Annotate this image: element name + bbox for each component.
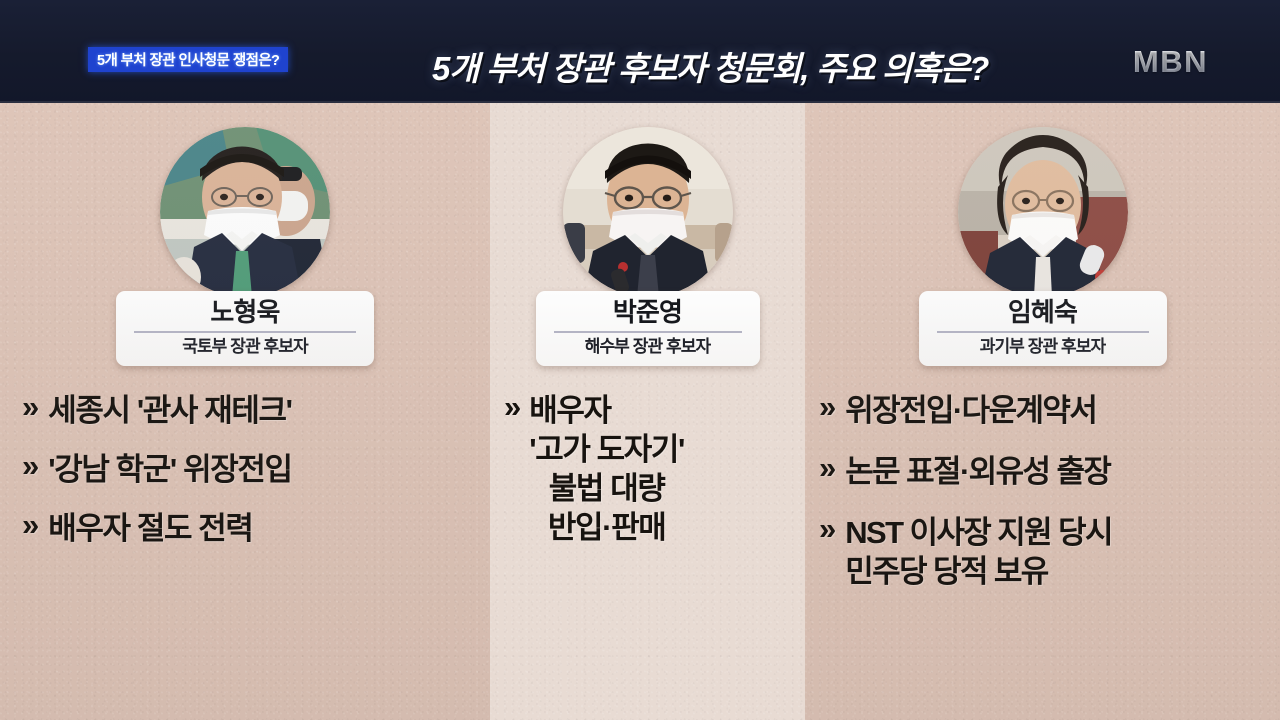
list-item: » 위장전입·다운계약서: [819, 391, 1280, 430]
candidates-board: 노형욱 국토부 장관 후보자 » 세종시 '관사 재테크' » '강남 학군' …: [0, 103, 1280, 720]
candidate-name-1: 노형욱: [122, 298, 368, 326]
chevron-double-right-icon: »: [819, 391, 836, 423]
chevron-double-right-icon: »: [22, 509, 39, 541]
portrait-wrapper-3: [958, 127, 1128, 297]
issue-text: 배우자 절도 전력: [48, 509, 252, 548]
portrait-wrapper-1: [160, 127, 330, 297]
header-bar: 5개 부처 장관 인사청문 쟁점은? 5개 부처 장관 후보자 청문회, 주요 …: [0, 0, 1280, 103]
candidate-column-3: 임혜숙 과기부 장관 후보자 » 위장전입·다운계약서 » 논문 표절·외유성 …: [805, 103, 1280, 720]
chevron-double-right-icon: »: [22, 391, 39, 423]
list-item: » 세종시 '관사 재테크': [22, 391, 490, 430]
nameplate-2: 박준영 해수부 장관 후보자: [536, 291, 760, 366]
candidate-name-2: 박준영: [542, 298, 754, 326]
portrait-illustration-1: [160, 127, 330, 297]
nameplate-divider-1: [134, 331, 356, 333]
issue-text: 배우자 '고가 도자기' 불법 대량 반입·판매: [529, 391, 684, 547]
issue-text: 세종시 '관사 재테크': [48, 391, 291, 430]
chevron-double-right-icon: »: [819, 513, 836, 545]
issue-list-3: » 위장전입·다운계약서 » 논문 표절·외유성 출장 » NST 이사장 지원…: [805, 391, 1280, 613]
nameplate-3: 임혜숙 과기부 장관 후보자: [919, 291, 1167, 366]
network-logo: MBN: [1133, 44, 1208, 80]
avatar-2: [563, 127, 733, 297]
list-item: » 배우자 '고가 도자기' 불법 대량 반입·판매: [504, 391, 805, 547]
portrait-wrapper-2: [563, 127, 733, 297]
list-item: » 배우자 절도 전력: [22, 509, 490, 548]
chevron-double-right-icon: »: [22, 450, 39, 482]
candidate-role-1: 국토부 장관 후보자: [122, 338, 368, 357]
candidate-role-3: 과기부 장관 후보자: [925, 338, 1161, 357]
nameplate-divider-2: [554, 331, 742, 333]
nameplate-divider-3: [937, 331, 1149, 333]
candidate-name-3: 임혜숙: [925, 298, 1161, 326]
chevron-double-right-icon: »: [819, 452, 836, 484]
issue-list-2: » 배우자 '고가 도자기' 불법 대량 반입·판매: [490, 391, 805, 547]
avatar-1: [160, 127, 330, 297]
list-item: » NST 이사장 지원 당시 민주당 당적 보유: [819, 513, 1280, 591]
kicker-badge: 5개 부처 장관 인사청문 쟁점은?: [88, 47, 288, 72]
issue-text: 논문 표절·외유성 출장: [845, 452, 1110, 491]
page-title: 5개 부처 장관 후보자 청문회, 주요 의혹은?: [360, 42, 1060, 90]
nameplate-1: 노형욱 국토부 장관 후보자: [116, 291, 374, 366]
list-item: » '강남 학군' 위장전입: [22, 450, 490, 489]
broadcast-graphic: 5개 부처 장관 인사청문 쟁점은? 5개 부처 장관 후보자 청문회, 주요 …: [0, 0, 1280, 720]
portrait-illustration-3: [958, 127, 1128, 297]
candidate-role-2: 해수부 장관 후보자: [542, 338, 754, 357]
kicker-label: 5개 부처 장관 인사청문 쟁점은?: [97, 49, 279, 70]
issue-text: '강남 학군' 위장전입: [48, 450, 291, 489]
chevron-double-right-icon: »: [504, 391, 521, 423]
candidate-column-1: 노형욱 국토부 장관 후보자 » 세종시 '관사 재테크' » '강남 학군' …: [0, 103, 490, 720]
list-item: » 논문 표절·외유성 출장: [819, 452, 1280, 491]
issue-text: 위장전입·다운계약서: [845, 391, 1096, 430]
candidate-column-2: 박준영 해수부 장관 후보자 » 배우자 '고가 도자기' 불법 대량 반입·판…: [490, 103, 805, 720]
avatar-3: [958, 127, 1128, 297]
issue-list-1: » 세종시 '관사 재테크' » '강남 학군' 위장전입 » 배우자 절도 전…: [0, 391, 490, 568]
portrait-illustration-2: [563, 127, 733, 297]
issue-text: NST 이사장 지원 당시 민주당 당적 보유: [845, 513, 1112, 591]
